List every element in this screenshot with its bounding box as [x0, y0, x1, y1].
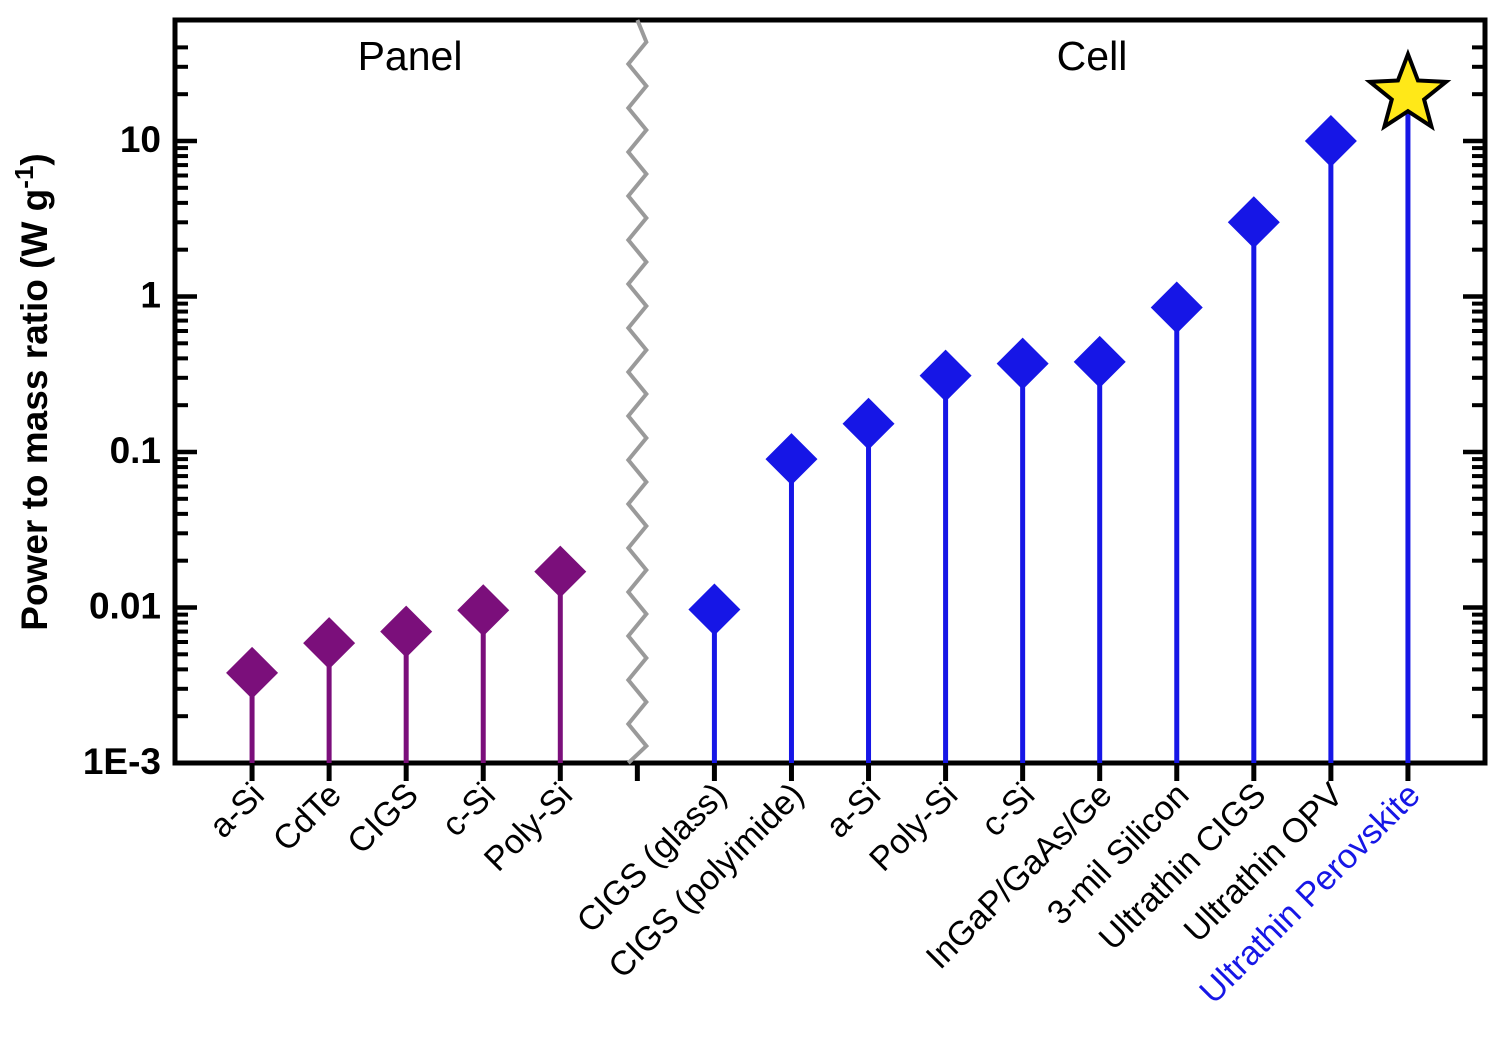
- x-category-label: Poly-Si: [862, 776, 965, 879]
- y-axis-title-main: Power to mass ratio (W g: [14, 189, 55, 631]
- y-tick-label: 1E-3: [83, 741, 161, 782]
- cell-group-label: Cell: [1057, 33, 1128, 79]
- svg-text:Power to mass ratio (W g-1): Power to mass ratio (W g-1): [9, 153, 55, 630]
- y-axis-title-superscript: -1: [9, 166, 39, 189]
- x-category-label: CdTe: [266, 776, 349, 859]
- x-axis-category-labels: a-SiCdTeCIGSc-SiPoly-SiCIGS (glass)CIGS …: [202, 776, 1428, 1012]
- chart-figure: 1010.10.011E-3 Power to mass ratio (W g-…: [0, 0, 1500, 1054]
- y-tick-label: 1: [140, 274, 161, 315]
- x-category-label: c-Si: [435, 776, 503, 844]
- y-axis-tick-labels: 1010.10.011E-3: [83, 119, 161, 782]
- y-tick-label: 0.01: [89, 585, 161, 626]
- x-category-label: a-Si: [202, 776, 272, 846]
- plot-frame: [175, 20, 1485, 763]
- x-category-label: Poly-Si: [477, 776, 580, 879]
- power-to-mass-ratio-chart: 1010.10.011E-3 Power to mass ratio (W g-…: [0, 0, 1500, 1054]
- x-category-label: a-Si: [819, 776, 889, 846]
- panel-group-label: Panel: [358, 33, 463, 79]
- y-axis-title: Power to mass ratio (W g-1): [9, 153, 55, 630]
- y-tick-label: 10: [120, 119, 161, 160]
- y-axis-title-close: ): [14, 153, 55, 165]
- x-category-label: CIGS: [340, 776, 426, 862]
- x-category-label: c-Si: [974, 776, 1042, 844]
- y-tick-label: 0.1: [110, 430, 161, 471]
